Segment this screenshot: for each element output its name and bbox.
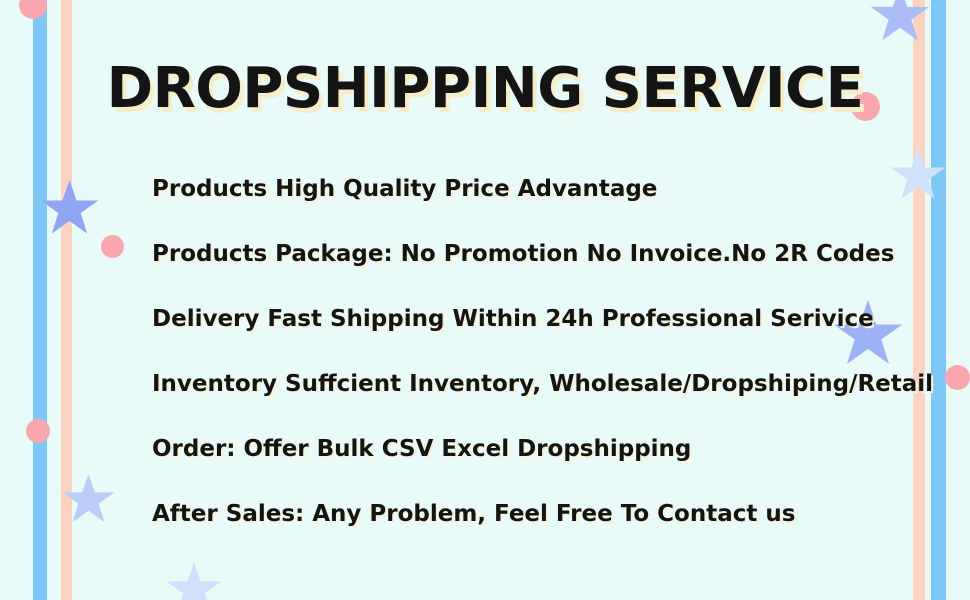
feature-line-order: Order: Offer Bulk CSV Excel Dropshipping — [152, 438, 942, 461]
feature-line-quality: Products High Quality Price Advantage — [152, 178, 942, 201]
feature-list: Products High Quality Price Advantage Pr… — [152, 178, 942, 526]
star-bottom-center — [166, 562, 222, 600]
page-title: DROPSHIPPING SERVICE — [0, 56, 970, 121]
feature-line-after-sales: After Sales: Any Problem, Feel Free To C… — [152, 503, 942, 526]
dot-pink-mid-left — [26, 419, 50, 443]
feature-line-inventory: Inventory Suffcient Inventory, Wholesale… — [152, 373, 942, 396]
feature-line-delivery: Delivery Fast Shipping Within 24h Profes… — [152, 308, 942, 331]
dropshipping-service-banner: DROPSHIPPING SERVICE Products High Quali… — [0, 0, 970, 600]
dot-pink-upper-left — [101, 235, 124, 258]
dot-pink-mid-right — [945, 365, 970, 390]
feature-line-package: Products Package: No Promotion No Invoic… — [152, 243, 942, 266]
